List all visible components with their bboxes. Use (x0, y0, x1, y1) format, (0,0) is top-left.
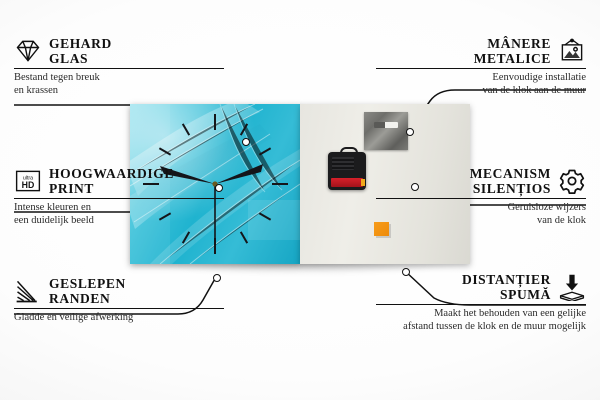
feature-rule (14, 198, 224, 199)
feature-manere-metalice: MÂNERE METALICE Eenvoudige installatie v… (376, 36, 586, 97)
picture-frame-icon (558, 37, 586, 65)
feature-geslepen-randen: GESLEPEN RANDEN Gladde en veilige afwerk… (14, 276, 224, 325)
svg-text:HD: HD (22, 180, 35, 190)
feature-desc-line1: Eenvoudige installatie (376, 72, 586, 85)
feature-title-line2: RANDEN (49, 291, 126, 306)
feature-desc-line1: Bestand tegen breuk (14, 72, 224, 85)
hanger-slot (374, 122, 398, 128)
feature-title-line2: METALICE (376, 51, 551, 66)
feature-desc-line1: Maakt het behouden van een gelijke (376, 308, 586, 321)
arrow-onto-pad-icon (558, 273, 586, 301)
feature-rule (376, 304, 586, 305)
feature-rule (14, 68, 224, 69)
feature-desc-line1: Gladde en veilige afwerking (14, 312, 224, 325)
feature-title-line1: DISTANȚIER (376, 272, 551, 287)
feature-title-line1: GESLEPEN (49, 276, 126, 291)
feature-title-line1: MÂNERE (376, 36, 551, 51)
feature-desc-line2: afstand tussen de klok en de muur mogeli… (376, 321, 586, 334)
feature-distantier-spuma: DISTANȚIER SPUMĂ Maakt het behouden van … (376, 272, 586, 333)
feature-gehard-glas: GEHARD GLAS Bestand tegen breuk en krass… (14, 36, 224, 97)
gear-icon (558, 167, 586, 195)
pointer-dot-manere (406, 128, 414, 136)
feature-rule (376, 198, 586, 199)
feature-title-line2: GLAS (49, 51, 112, 66)
feature-mecanism-silentios: MECANISM SILENȚIOS Geruisloze wijzers va… (376, 166, 586, 227)
feature-title-line2: SILENȚIOS (376, 181, 551, 196)
bevel-edge-icon (14, 277, 42, 305)
ultra-hd-icon: ultra HD (14, 167, 42, 195)
feature-rule (14, 308, 224, 309)
pointer-dot-gehard-glas (242, 138, 250, 146)
feature-desc-line1: Intense kleuren en (14, 202, 224, 215)
feature-desc-line2: van de klok (376, 215, 586, 228)
infographic-canvas: GEHARD GLAS Bestand tegen breuk en krass… (0, 0, 600, 400)
mechanism-hanger-loop (340, 147, 358, 157)
feature-title-line2: PRINT (49, 181, 174, 196)
feature-hoogwaardige-print: ultra HD HOOGWAARDIGE PRINT Intense kleu… (14, 166, 224, 227)
battery-terminal (361, 179, 365, 186)
feature-title-line1: GEHARD (49, 36, 112, 51)
feature-desc-line2: een duidelijk beeld (14, 215, 224, 228)
feature-title-line2: SPUMĂ (376, 287, 551, 302)
feature-rule (376, 68, 586, 69)
battery (331, 178, 363, 187)
mechanism-grill (332, 157, 354, 170)
feature-desc-line1: Geruisloze wijzers (376, 202, 586, 215)
metal-hanger-plate (364, 112, 408, 150)
diamond-icon (14, 37, 42, 65)
feature-desc-line2: en krassen (14, 85, 224, 98)
feature-desc-line2: van de klok aan de muur (376, 85, 586, 98)
feature-title-line1: MECANISM (376, 166, 551, 181)
clock-mechanism (328, 152, 366, 190)
feature-title-line1: HOOGWAARDIGE (49, 166, 174, 181)
